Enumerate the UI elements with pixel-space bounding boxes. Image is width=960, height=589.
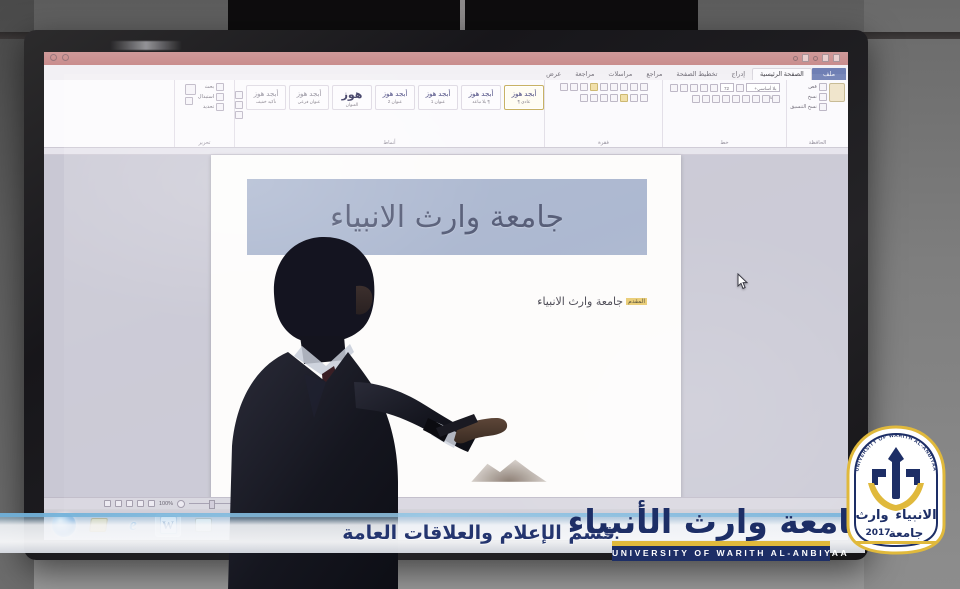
tab-page-layout[interactable]: تخطيط الصفحة [669, 69, 724, 80]
align-left-icon[interactable] [620, 94, 628, 102]
font-size-combobox[interactable]: 72 [720, 83, 734, 92]
document-page[interactable]: جامعة وارث الانبياء جامعة وارث الانبياء … [211, 155, 681, 497]
style-name: عنوان 2 [388, 99, 402, 105]
cut-label: قص [808, 84, 817, 90]
tab-file[interactable]: ملف [812, 68, 846, 80]
customize-icon[interactable] [793, 56, 798, 61]
paste-icon[interactable] [829, 83, 845, 102]
style-name: بلا تباعد ¶ [472, 99, 489, 105]
ribbon-group-font: +بلا أساسي (Arial) 72 [662, 80, 786, 147]
help-icon[interactable] [62, 54, 69, 61]
view-draft-icon[interactable] [148, 500, 155, 507]
document-heading-text: جامعة وارث الانبياء [330, 200, 564, 235]
style-card-heading-1[interactable]: أبجد هوز عنوان 1 [418, 85, 458, 110]
text-highlight-color-icon[interactable] [702, 95, 710, 103]
style-card-normal[interactable]: أبجد هوز ¶ عادي [504, 85, 544, 110]
sort-icon[interactable] [570, 83, 578, 91]
close-icon[interactable] [50, 54, 57, 61]
seal-bottom-rule [856, 541, 936, 544]
text-effects-icon[interactable] [712, 95, 720, 103]
style-card-subtitle[interactable]: أبجد هوز عنوان فرعي [289, 85, 329, 110]
ribbon-tab-strip[interactable]: ملف الصفحة الرئيسية إدراج تخطيط الصفحة م… [44, 65, 848, 80]
style-name: تأكيد خفيف [256, 99, 276, 105]
font-name-combobox[interactable]: +بلا أساسي (Arial) [746, 83, 780, 92]
view-print-layout-icon[interactable] [104, 500, 111, 507]
copy-icon[interactable] [819, 93, 827, 101]
group-label-font: خط [663, 140, 786, 146]
replace-label: استبدال [198, 94, 214, 100]
select-icon[interactable] [216, 103, 224, 111]
zoom-level-label: 100% [159, 501, 173, 507]
zoom-out-icon[interactable] [177, 500, 185, 508]
strikethrough-icon[interactable] [742, 95, 750, 103]
style-name: عنوان 1 [431, 99, 445, 105]
quick-access-toolbar[interactable] [793, 54, 840, 62]
group-label-clipboard: الحافظة [787, 140, 848, 146]
ribbon-group-clipboard: قص نسخ نسخ التنسيق الحافظة [786, 80, 848, 147]
wordmark-english-text: UNIVERSITY OF WARITH AL-ANBIYAA [612, 546, 830, 561]
group-label-editing: تحرير [175, 140, 234, 146]
seal-arabic-line-1: وارث [855, 508, 888, 523]
justify-icon[interactable] [610, 94, 618, 102]
grow-font-icon[interactable] [700, 84, 708, 92]
tab-mailings[interactable]: مراسلات [601, 69, 639, 80]
style-sample: أبجد هوز [297, 90, 322, 98]
change-styles-icon[interactable] [185, 97, 193, 105]
zoom-in-icon[interactable] [239, 500, 247, 508]
minimize-icon[interactable] [833, 54, 840, 62]
change-case-icon[interactable] [680, 84, 688, 92]
university-seal-logo: UNIVERSITY OF WARITH AL-ANBIYAA وارث الا… [842, 425, 950, 555]
italic-icon[interactable] [762, 95, 770, 103]
style-sample: أبجد هوز [469, 90, 494, 98]
rtl-direction-icon[interactable] [590, 83, 598, 91]
styles-more-icon[interactable] [235, 111, 243, 119]
replace-icon[interactable] [216, 93, 224, 101]
horizontal-ruler[interactable] [44, 148, 848, 155]
copy-label: نسخ [808, 94, 817, 100]
cut-icon[interactable] [819, 83, 827, 91]
style-name: عنوان فرعي [298, 99, 321, 105]
tab-review[interactable]: مراجعة [568, 69, 601, 80]
find-icon[interactable] [216, 83, 224, 91]
tab-insert[interactable]: إدراج [724, 69, 752, 80]
style-sample: أبجد هوز [254, 90, 279, 98]
highlighted-word: المقدم [626, 298, 647, 305]
shrink-font-icon[interactable] [690, 84, 698, 92]
font-color-icon[interactable] [692, 95, 700, 103]
group-label-styles: أنماط [235, 140, 544, 146]
tab-home[interactable]: الصفحة الرئيسية [752, 68, 812, 80]
multilevel-list-icon[interactable] [620, 83, 628, 91]
group-label-paragraph: فقرة [545, 140, 662, 146]
align-center-icon[interactable] [630, 94, 638, 102]
view-fullscreen-icon[interactable] [115, 500, 122, 507]
document-body-line[interactable]: جامعة وارث الانبياء المقدم [537, 295, 647, 308]
subscript-icon[interactable] [732, 95, 740, 103]
redo-icon[interactable] [802, 54, 809, 62]
shading-icon[interactable] [590, 94, 598, 102]
tab-references[interactable]: مراجع [639, 69, 669, 80]
bold-icon[interactable] [772, 95, 780, 103]
underline-icon[interactable] [752, 95, 760, 103]
zoom-slider[interactable] [189, 503, 235, 504]
style-card-title[interactable]: هوز العنوان [332, 85, 372, 110]
text-effects-large-icon[interactable] [185, 84, 196, 95]
chevron-down-icon[interactable] [736, 84, 744, 92]
seal-arabic-line-2: الانبياء [895, 508, 936, 523]
find-label: بحث [205, 84, 215, 90]
decrease-indent-icon[interactable] [610, 83, 618, 91]
university-wordmark: جامعة وارث الأنبياء UNIVERSITY OF WARITH… [600, 465, 842, 561]
show-formatting-marks-icon[interactable] [560, 83, 568, 91]
superscript-icon[interactable] [722, 95, 730, 103]
styles-scroll-up-icon[interactable] [235, 91, 243, 99]
align-right-icon[interactable] [640, 94, 648, 102]
styles-scroll-down-icon[interactable] [235, 101, 243, 109]
wordmark-arabic-text: جامعة وارث الأنبياء [568, 505, 875, 540]
tab-view[interactable]: عرض [539, 69, 568, 80]
clear-formatting-icon[interactable] [670, 84, 678, 92]
numbering-icon[interactable] [630, 83, 638, 91]
format-painter-label: نسخ التنسيق [790, 104, 817, 110]
body-text: جامعة وارث الانبياء [537, 295, 623, 308]
board-brand-logo [110, 41, 182, 50]
bullets-icon[interactable] [640, 83, 648, 91]
word-title-bar [44, 52, 848, 65]
document-heading-block[interactable]: جامعة وارث الانبياء [247, 179, 647, 255]
ltr-direction-icon[interactable] [580, 83, 588, 91]
ribbon[interactable]: قص نسخ نسخ التنسيق الحافظة +بلا أساسي (A… [44, 80, 848, 148]
seal-arabic-line-3: جامعة [889, 526, 924, 540]
increase-indent-icon[interactable] [600, 83, 608, 91]
style-name: العنوان [346, 102, 359, 108]
style-sample: أبجد هوز [383, 90, 408, 98]
seal-year: 2017 [865, 528, 890, 538]
ribbon-group-paragraph: فقرة [544, 80, 662, 147]
style-card-no-spacing[interactable]: أبجد هوز بلا تباعد ¶ [461, 85, 501, 110]
style-name: ¶ عادي [518, 99, 531, 105]
style-sample: أبجد هوز [426, 90, 451, 98]
undo-icon[interactable] [813, 56, 818, 61]
ribbon-group-editing: بحث استبدال تحديد تحرير [174, 80, 234, 147]
format-painter-icon[interactable] [819, 103, 827, 111]
save-icon[interactable] [822, 54, 829, 62]
window-controls[interactable] [50, 54, 69, 61]
ribbon-group-styles: أبجد هوز ¶ عادي أبجد هوز بلا تباعد ¶ أبج… [234, 80, 544, 147]
view-web-layout-icon[interactable] [126, 500, 133, 507]
screenshot-root: ملف الصفحة الرئيسية إدراج تخطيط الصفحة م… [0, 0, 960, 589]
document-canvas[interactable]: جامعة وارث الانبياء جامعة وارث الانبياء … [44, 148, 848, 497]
borders-icon[interactable] [580, 94, 588, 102]
style-card-heading-2[interactable]: أبجد هوز عنوان 2 [375, 85, 415, 110]
view-outline-icon[interactable] [137, 500, 144, 507]
style-sample: أبجد هوز [512, 90, 537, 98]
chevron-down-icon[interactable] [710, 84, 718, 92]
style-sample: هوز [342, 88, 363, 101]
line-spacing-icon[interactable] [600, 94, 608, 102]
select-label: تحديد [203, 104, 214, 110]
style-card-subtle-emphasis[interactable]: أبجد هوز تأكيد خفيف [246, 85, 286, 110]
